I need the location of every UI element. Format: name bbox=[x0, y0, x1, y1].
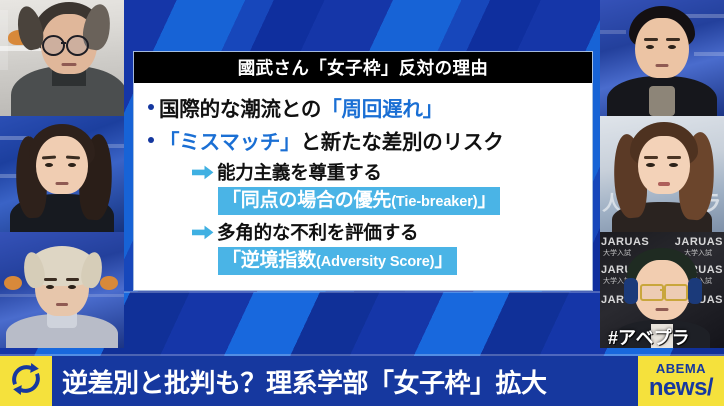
eyeglasses-right-lens bbox=[664, 284, 688, 301]
brand-name-news: news/ bbox=[649, 376, 713, 400]
headphone-right-cup bbox=[688, 278, 702, 304]
broadcast-screen: 人 プラ JARUAS 大学入試 JARUAS 大学入試 JARUAS 大学入試… bbox=[0, 0, 724, 406]
ticker-logo bbox=[0, 356, 52, 406]
bullet-line-2-text-keyword: 「ミスマッチ」 bbox=[159, 125, 301, 155]
eyeglasses-left-lens bbox=[640, 284, 664, 301]
arrow-right-icon bbox=[192, 225, 214, 240]
abema-news-logo: ABEMA news/ bbox=[638, 356, 724, 406]
person-figure bbox=[600, 116, 724, 232]
bullet-line-1-text-keyword: 「周回遅れ」 bbox=[321, 92, 443, 122]
panel-body: 国際的な潮流との 「周回遅れ」 「ミスマッチ」 と新たな差別のリスク 能力主義を… bbox=[134, 83, 592, 275]
ticker-headline: 逆差別と批判も？理系学部「女子枠」拡大 bbox=[52, 356, 638, 406]
highlight-box-2: 「逆境指数(Adversity Score)」 bbox=[218, 247, 457, 275]
highlight-2-jp: 「逆境指数 bbox=[222, 250, 316, 271]
person-figure bbox=[600, 0, 724, 116]
info-panel: 國武さん「女子枠」反対の理由 国際的な潮流との 「周回遅れ」 「ミスマッチ」 と… bbox=[134, 52, 592, 290]
arrow-right-icon bbox=[192, 165, 214, 180]
highlight-line-2: 「逆境指数(Adversity Score)」 bbox=[134, 247, 592, 275]
highlight-box-1: 「同点の場合の優先(Tie-breaker)」 bbox=[218, 187, 500, 215]
arrow-line-1-text: 能力主義を尊重する bbox=[217, 159, 382, 185]
person-figure bbox=[0, 116, 124, 232]
bullet-dot-icon bbox=[148, 104, 154, 110]
highlight-2-en: (Adversity Score) bbox=[316, 254, 434, 270]
hashtag-overlay: #アベプラ bbox=[608, 324, 690, 348]
participant-tile-right-2[interactable]: 人 プラ bbox=[600, 116, 724, 232]
highlight-1-en: (Tie-breaker) bbox=[391, 194, 477, 210]
highlight-1-jp-tail: 」 bbox=[477, 190, 496, 211]
arrow-line-2: 多角的な不利を評価する bbox=[134, 219, 592, 245]
eyeglasses-left-lens bbox=[42, 35, 65, 56]
bullet-line-1-text-plain: 国際的な潮流との bbox=[159, 92, 321, 122]
arrow-line-1: 能力主義を尊重する bbox=[134, 159, 592, 185]
bottom-ticker: 逆差別と批判も？理系学部「女子枠」拡大 ABEMA news/ bbox=[0, 356, 724, 406]
participant-tile-left-3[interactable] bbox=[0, 232, 124, 348]
participant-tile-left-2[interactable] bbox=[0, 116, 124, 232]
participant-tile-right-1[interactable] bbox=[600, 0, 724, 116]
person-figure bbox=[0, 0, 124, 116]
recycle-arrows-icon bbox=[7, 360, 45, 403]
bullet-dot-icon bbox=[148, 137, 154, 143]
eyeglasses-right-lens bbox=[66, 35, 89, 56]
person-figure bbox=[0, 232, 124, 348]
bullet-line-2-text-plain: と新たな差別のリスク bbox=[301, 125, 504, 155]
highlight-1-jp: 「同点の場合の優先 bbox=[222, 190, 391, 211]
participant-tile-right-3[interactable]: JARUAS 大学入試 JARUAS 大学入試 JARUAS 大学入試 JARU… bbox=[600, 232, 724, 348]
highlight-2-jp-tail: 」 bbox=[434, 250, 453, 271]
highlight-line-1: 「同点の場合の優先(Tie-breaker)」 bbox=[134, 187, 592, 215]
bullet-line-2: 「ミスマッチ」 と新たな差別のリスク bbox=[134, 125, 592, 155]
panel-title: 國武さん「女子枠」反対の理由 bbox=[134, 52, 592, 83]
arrow-line-2-text: 多角的な不利を評価する bbox=[217, 219, 418, 245]
participant-tile-left-1[interactable] bbox=[0, 0, 124, 116]
headphone-left-cup bbox=[624, 278, 638, 304]
bullet-line-1: 国際的な潮流との 「周回遅れ」 bbox=[134, 92, 592, 122]
